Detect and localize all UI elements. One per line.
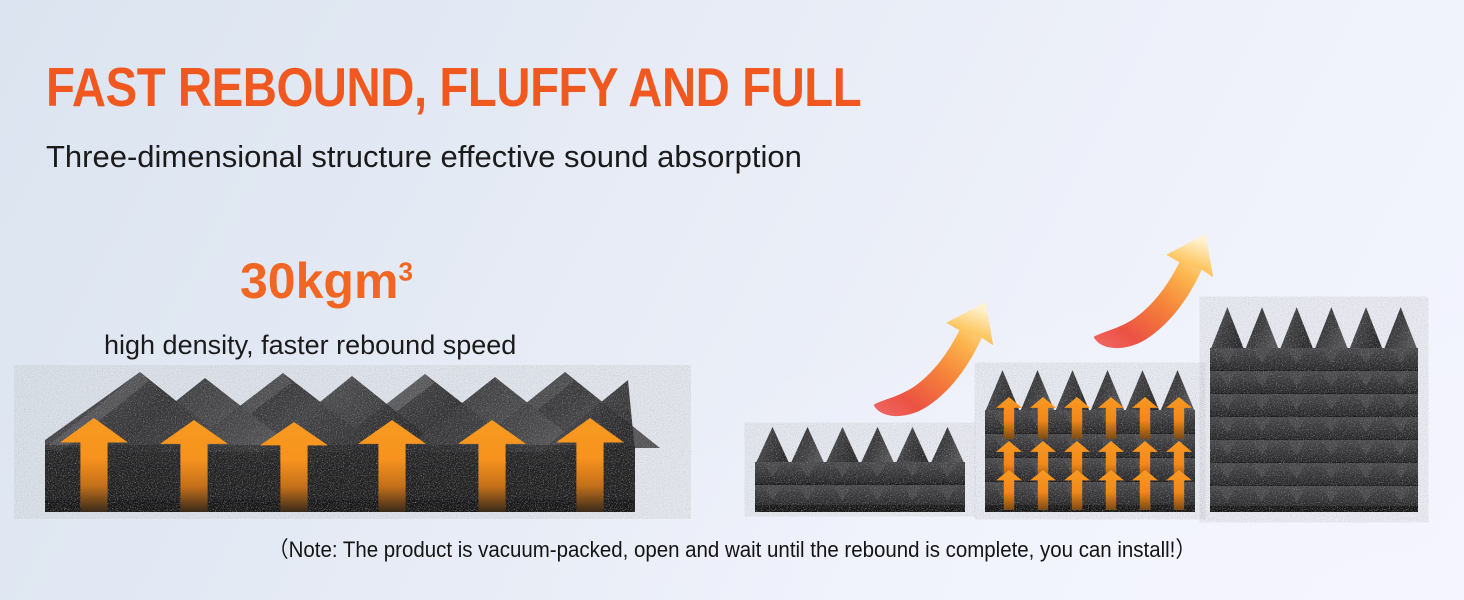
- density-exponent: 3: [398, 256, 412, 286]
- compressed-stack: [755, 427, 965, 512]
- rebounding-stack: [985, 370, 1195, 512]
- rebound-swoosh-arrow-2: [1094, 234, 1213, 348]
- rebound-arrows-middle-stack: [996, 397, 1192, 510]
- rebound-arrows-left-panel: [60, 418, 624, 512]
- density-caption: high density, faster rebound speed: [104, 330, 516, 361]
- pyramid-foam-panel-cutaway: [45, 372, 660, 512]
- density-value: 30kgm: [240, 253, 398, 309]
- subtitle: Three-dimensional structure effective so…: [46, 138, 802, 175]
- density-callout: 30kgm3: [240, 256, 413, 306]
- product-feature-banner: FAST REBOUND, FLUFFY AND FULL Three-dime…: [0, 0, 1464, 600]
- rebound-swoosh-arrow-1: [874, 302, 993, 416]
- product-note: （Note: The product is vacuum-packed, ope…: [51, 532, 1413, 564]
- page-title: FAST REBOUND, FLUFFY AND FULL: [46, 60, 861, 115]
- full-rebound-stack: [1210, 307, 1418, 512]
